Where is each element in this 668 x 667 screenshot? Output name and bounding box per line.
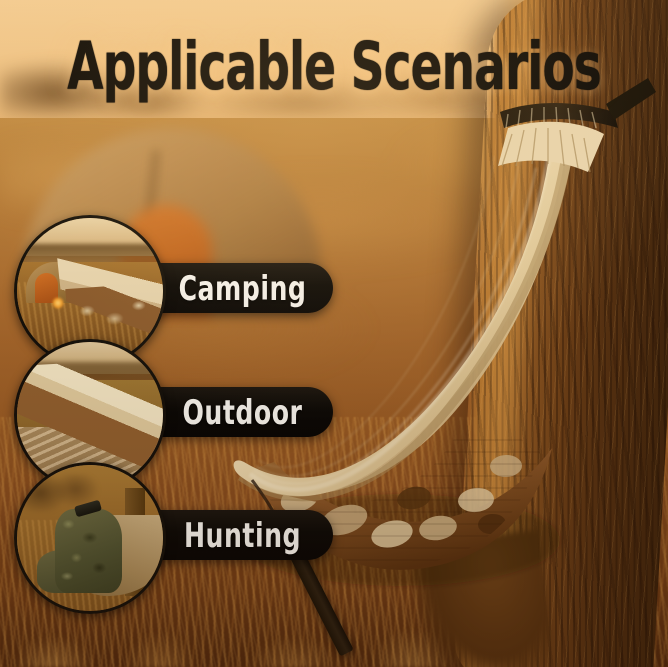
- scenario-label-hunting: Hunting: [184, 515, 301, 555]
- scenario-label-outdoor: Outdoor: [183, 392, 303, 432]
- hunting-thumbnail[interactable]: [14, 462, 166, 614]
- tree-root-base: [409, 530, 556, 667]
- thumb1-camo-pattern: [71, 288, 166, 338]
- page-title: Applicable Scenarios: [10, 34, 658, 100]
- hunting-thumbnail-image: [17, 465, 163, 611]
- thumb3-camo-pattern: [55, 509, 122, 594]
- scenario-label-camping: Camping: [179, 268, 307, 308]
- poster-canvas: Applicable Scenarios Camping Outdoor Hun…: [0, 0, 668, 667]
